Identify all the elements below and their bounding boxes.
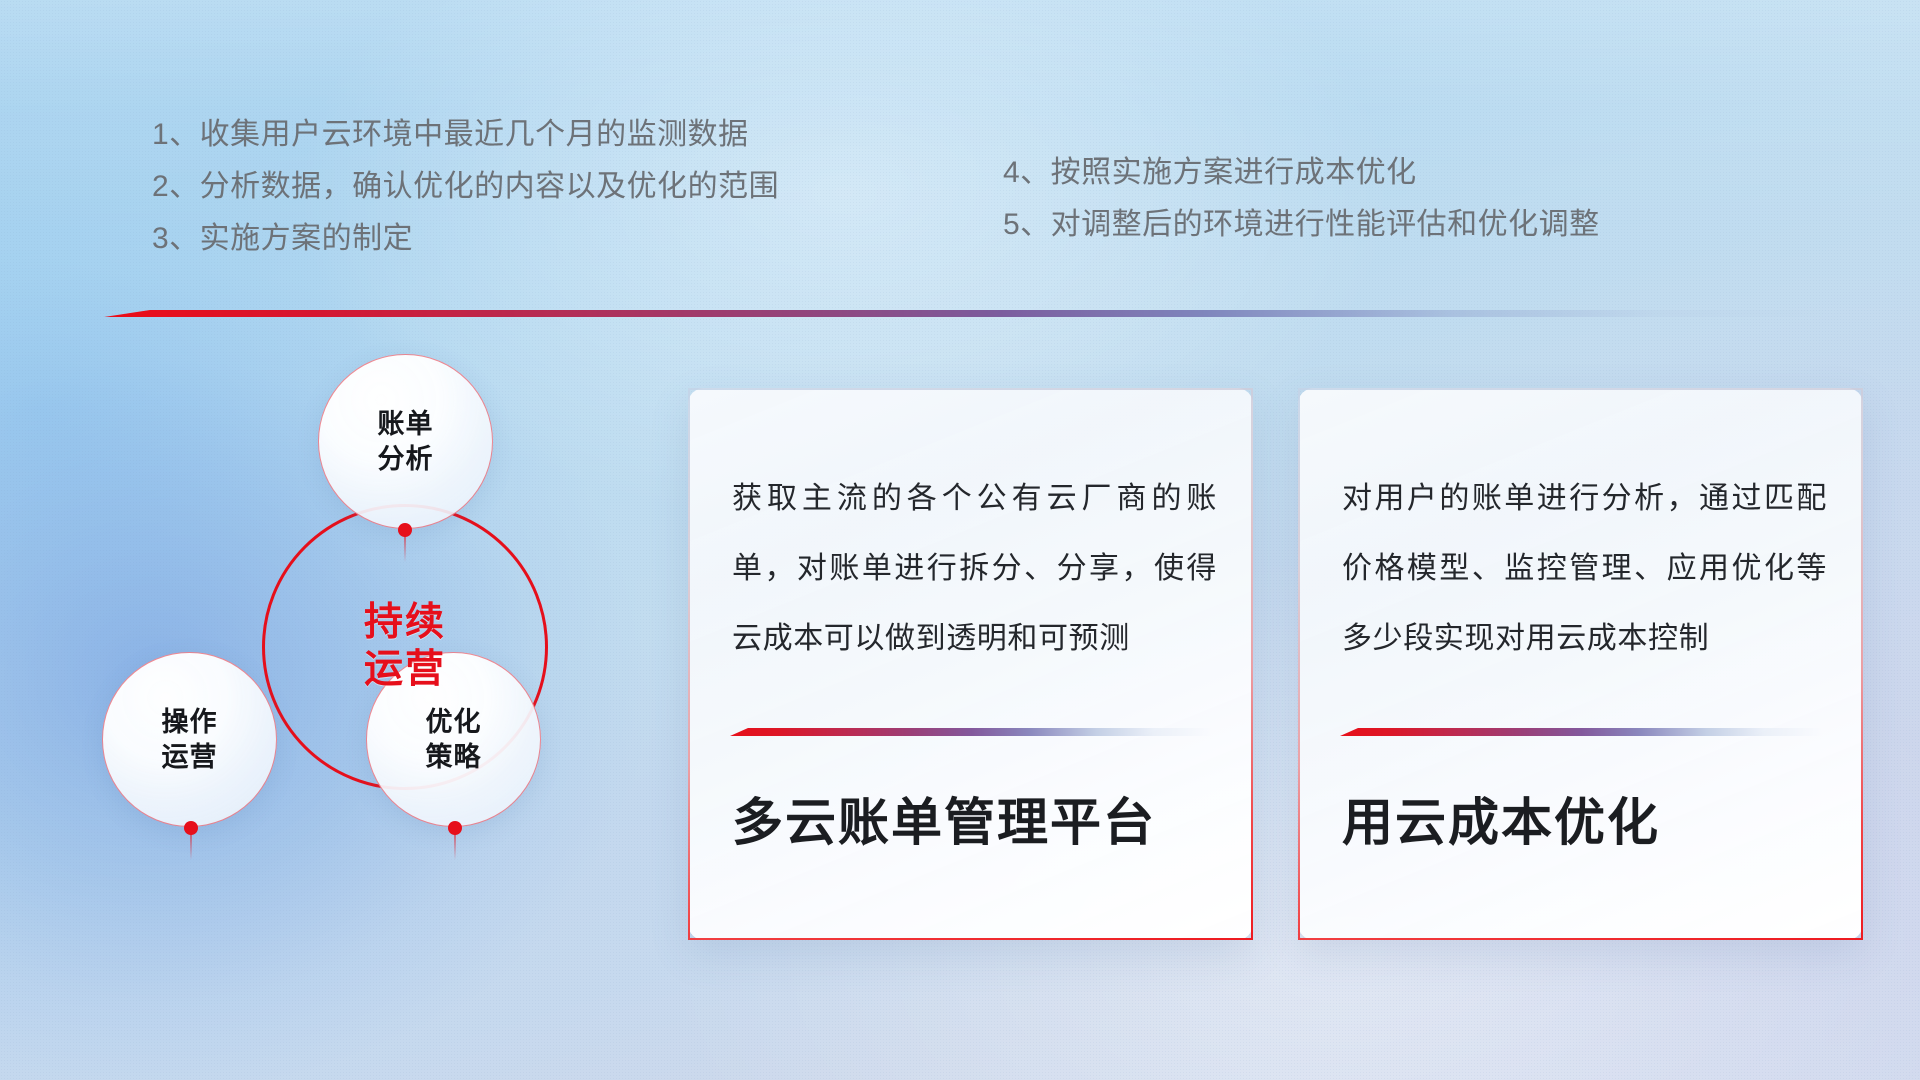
card-title: 用云成本优化 [1342, 794, 1833, 853]
step-item-4: 4、按照实施方案进行成本优化 [1003, 158, 1600, 188]
step-item-1: 1、收集用户云环境中最近几个月的监测数据 [152, 120, 779, 150]
feature-card-cloud-cost-optimization[interactable]: 对用户的账单进行分析，通过匹配价格模型、监控管理、应用优化等多少段实现对用云成本… [1298, 388, 1863, 940]
card-title: 多云账单管理平台 [732, 794, 1223, 853]
feature-card-multicloud-billing[interactable]: 获取主流的各个公有云厂商的账单，对账单进行拆分、分享，使得云成本可以做到透明和可… [688, 388, 1253, 940]
card-divider [1340, 728, 1822, 736]
card-description: 对用户的账单进行分析，通过匹配价格模型、监控管理、应用优化等多少段实现对用云成本… [1342, 464, 1827, 674]
center-label-line1: 持续 [364, 600, 446, 647]
diagram-node-dot-left [184, 821, 198, 835]
diagram-bubble-operation[interactable]: 操作 运营 [102, 652, 277, 827]
bubble-label-line1: 账单 [378, 407, 434, 441]
section-divider-rule [104, 310, 1826, 317]
diagram-node-dot-right [448, 821, 462, 835]
slide-canvas: 1、收集用户云环境中最近几个月的监测数据 2、分析数据，确认优化的内容以及优化的… [0, 0, 1920, 1080]
bubble-label-line2: 分析 [378, 442, 434, 476]
step-item-3: 3、实施方案的制定 [152, 224, 779, 254]
card-divider [730, 728, 1212, 736]
steps-list-right: 4、按照实施方案进行成本优化 5、对调整后的环境进行性能评估和优化调整 [1003, 158, 1600, 240]
diagram-bubble-bill-analysis[interactable]: 账单 分析 [318, 354, 493, 529]
diagram-connector-stem-left [190, 834, 192, 860]
step-item-5: 5、对调整后的环境进行性能评估和优化调整 [1003, 210, 1600, 240]
diagram-center-label: 持续 运营 [262, 504, 548, 790]
section-divider-bar [104, 310, 1826, 317]
bubble-label-line2: 运营 [162, 740, 218, 774]
continuous-operation-diagram: 账单 分析 操作 运营 优化 策略 持续 运营 [96, 352, 656, 932]
bubble-label-line1: 操作 [162, 705, 218, 739]
step-item-2: 2、分析数据，确认优化的内容以及优化的范围 [152, 172, 779, 202]
diagram-connector-stem-right [454, 834, 456, 860]
card-description: 获取主流的各个公有云厂商的账单，对账单进行拆分、分享，使得云成本可以做到透明和可… [732, 464, 1217, 674]
center-label-line2: 运营 [364, 647, 446, 694]
steps-list-left: 1、收集用户云环境中最近几个月的监测数据 2、分析数据，确认优化的内容以及优化的… [152, 120, 779, 254]
